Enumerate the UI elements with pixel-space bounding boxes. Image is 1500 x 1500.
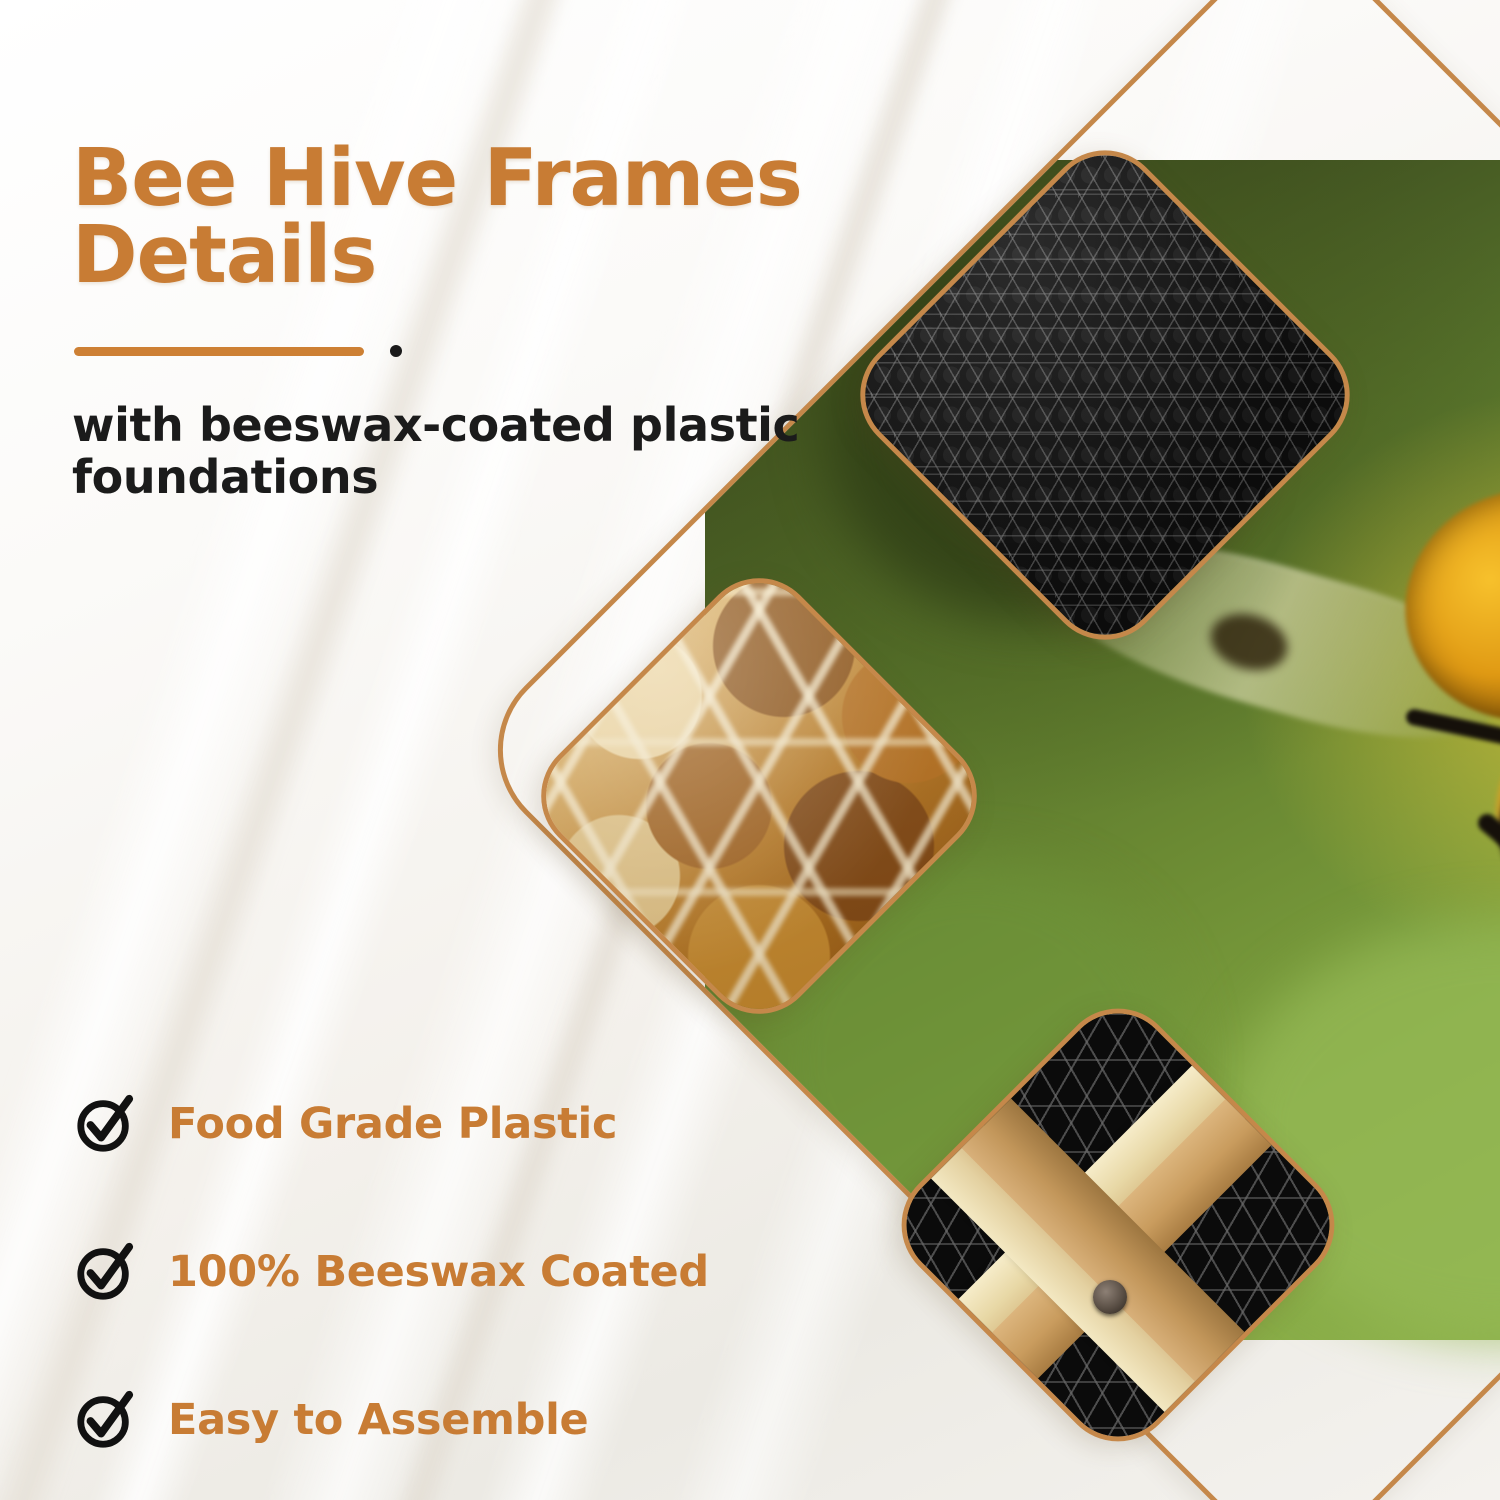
check-circle-icon bbox=[74, 1093, 136, 1155]
page-subtitle: with beeswax-coated plastic foundations bbox=[72, 400, 902, 503]
feature-item-beeswax-coated: 100% Beeswax Coated bbox=[74, 1198, 834, 1346]
feature-item-food-grade-plastic: Food Grade Plastic bbox=[74, 1050, 834, 1198]
page-title: Bee Hive Frames Details bbox=[72, 140, 892, 293]
feature-list: Food Grade Plastic 100% Beeswax Coated E… bbox=[74, 1050, 834, 1494]
subtitle-line-1: with beeswax-coated plastic bbox=[72, 400, 902, 452]
feature-item-easy-to-assemble: Easy to Assemble bbox=[74, 1346, 834, 1494]
frame-screw bbox=[1093, 1280, 1127, 1314]
check-circle-icon bbox=[74, 1241, 136, 1303]
bee-leg-mid bbox=[1474, 810, 1500, 907]
divider-bar bbox=[74, 347, 364, 356]
feature-label: 100% Beeswax Coated bbox=[168, 1247, 709, 1297]
divider-dot bbox=[390, 345, 402, 357]
title-divider bbox=[74, 345, 402, 357]
subtitle-line-2: foundations bbox=[72, 452, 902, 504]
title-line-1: Bee Hive Frames bbox=[72, 140, 892, 217]
title-line-2: Details bbox=[72, 217, 892, 294]
check-circle-icon bbox=[74, 1389, 136, 1451]
product-infographic: Bee Hive Frames Details with beeswax-coa… bbox=[0, 0, 1500, 1500]
feature-label: Food Grade Plastic bbox=[168, 1099, 617, 1149]
feature-label: Easy to Assemble bbox=[168, 1395, 588, 1445]
